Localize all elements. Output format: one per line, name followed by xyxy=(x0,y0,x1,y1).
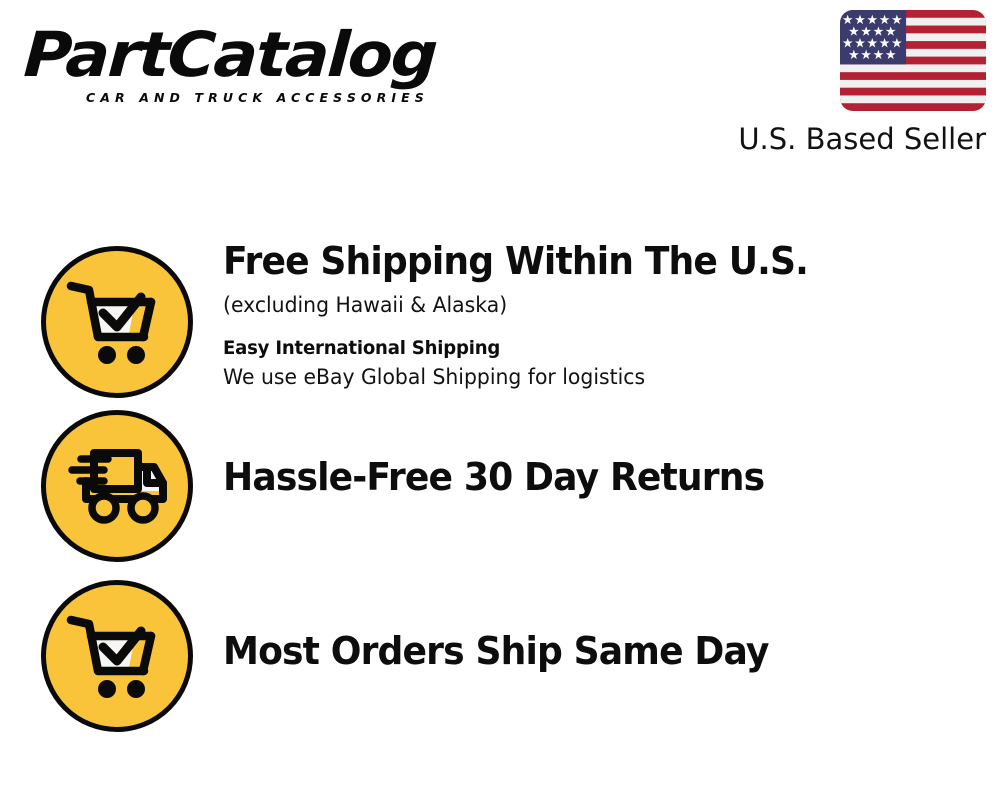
brand-wordmark: PartCatalog xyxy=(22,22,524,88)
feature-row: Most Orders Ship Same Day xyxy=(0,580,1000,750)
partcatalog-logo[interactable]: PartCatalog CAR AND TRUCK ACCESSORIES xyxy=(24,22,494,114)
us-based-seller-badge: U.S. Based Seller xyxy=(726,10,986,156)
cart-check-icon xyxy=(41,246,193,398)
feature-title: Free Shipping Within The U.S. xyxy=(223,238,961,285)
us-based-seller-label: U.S. Based Seller xyxy=(726,122,986,156)
feature-row: Hassle-Free 30 Day Returns xyxy=(0,410,1000,580)
feature-text: Free Shipping Within The U.S. (excluding… xyxy=(193,238,1000,390)
feature-note: (excluding Hawaii & Alaska) xyxy=(223,292,977,318)
feature-title: Hassle-Free 30 Day Returns xyxy=(223,454,961,501)
feature-row: Free Shipping Within The U.S. (excluding… xyxy=(0,238,1000,410)
us-flag-icon xyxy=(840,10,986,111)
brand-tagline: CAR AND TRUCK ACCESSORIES xyxy=(86,90,429,105)
page-header: PartCatalog CAR AND TRUCK ACCESSORIES xyxy=(0,0,1000,165)
feature-title: Most Orders Ship Same Day xyxy=(223,628,961,675)
feature-sub-title: Easy International Shipping xyxy=(223,336,961,360)
feature-text: Most Orders Ship Same Day xyxy=(193,580,1000,675)
feature-text: Hassle-Free 30 Day Returns xyxy=(193,410,1000,501)
delivery-truck-icon xyxy=(41,410,193,562)
cart-check-icon xyxy=(41,580,193,732)
feature-sub-note: We use eBay Global Shipping for logistic… xyxy=(223,364,977,390)
